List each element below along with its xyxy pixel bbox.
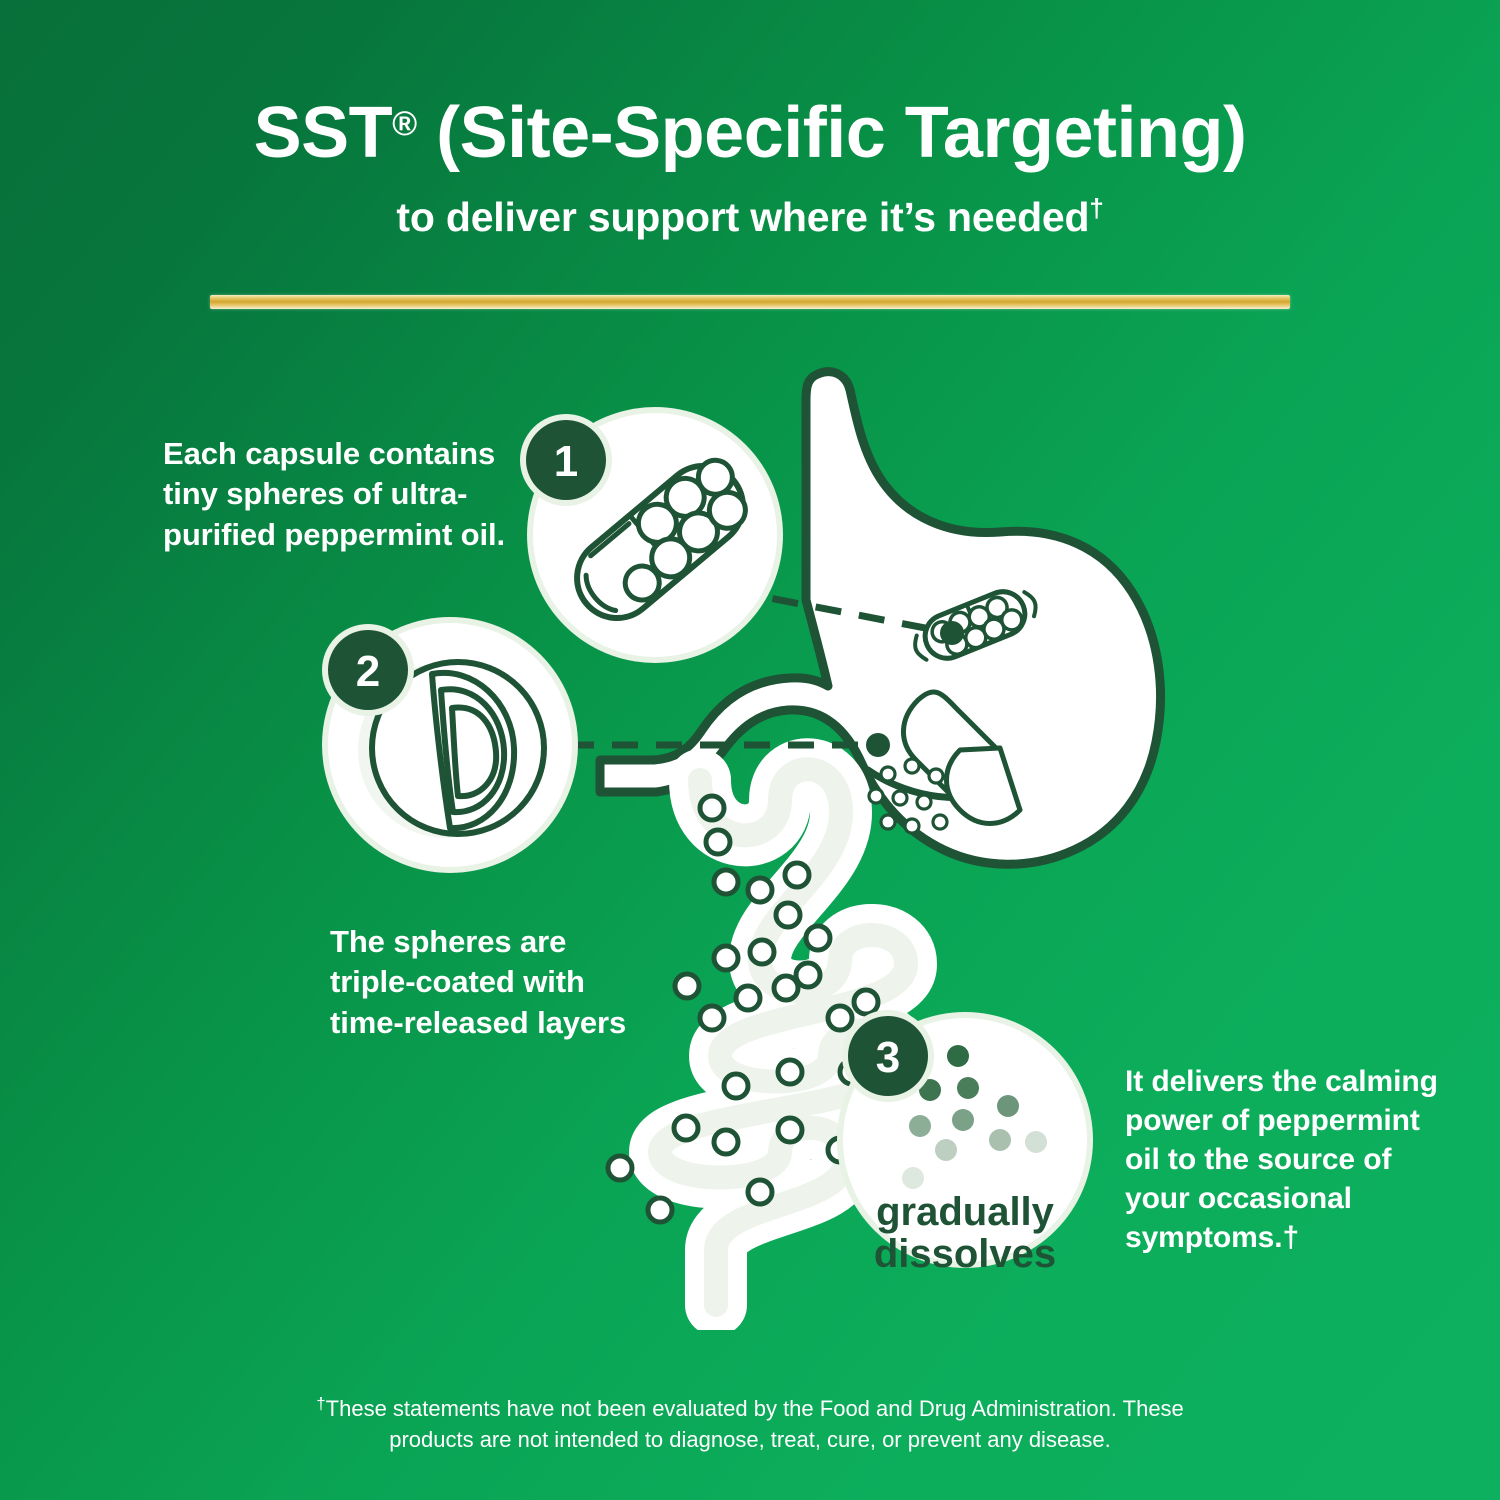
registered-trademark-icon: ® [392, 105, 417, 143]
sst-diagram: 1 2 [0, 330, 1500, 1330]
step-3-inner-label-line1: gradually [876, 1190, 1055, 1234]
page-title: SST® (Site-Specific Targeting) [0, 0, 1500, 171]
step-3-badge-label: 3 [876, 1033, 900, 1082]
step-2-badge-label: 2 [356, 647, 380, 696]
footnote-dagger-icon: † [316, 1394, 325, 1413]
step-3-circle[interactable]: gradually dissolves 3 [837, 1010, 1093, 1276]
dagger-icon: † [1089, 193, 1103, 223]
header: SST® (Site-Specific Targeting) to delive… [0, 0, 1500, 241]
infographic-canvas: SST® (Site-Specific Targeting) to delive… [0, 0, 1500, 1500]
gold-divider [210, 295, 1290, 309]
step-1-badge: 1 [520, 414, 612, 506]
step-1-circle[interactable]: 1 [520, 407, 783, 663]
step-1-badge-label: 1 [554, 437, 578, 486]
footnote-text: These statements have not been evaluated… [326, 1396, 1184, 1452]
step-2-badge: 2 [322, 624, 414, 716]
title-main: SST [254, 93, 393, 173]
page-subtitle: to deliver support where it’s needed† [0, 171, 1500, 241]
title-rest: (Site-Specific Targeting) [417, 93, 1247, 173]
step-2-circle[interactable]: 2 [322, 617, 578, 873]
footnote: †These statements have not been evaluate… [180, 1392, 1320, 1455]
step-3-badge: 3 [842, 1010, 934, 1102]
subtitle-text: to deliver support where it’s needed [396, 194, 1089, 240]
step-3-inner-label-line2: dissolves [874, 1232, 1056, 1276]
